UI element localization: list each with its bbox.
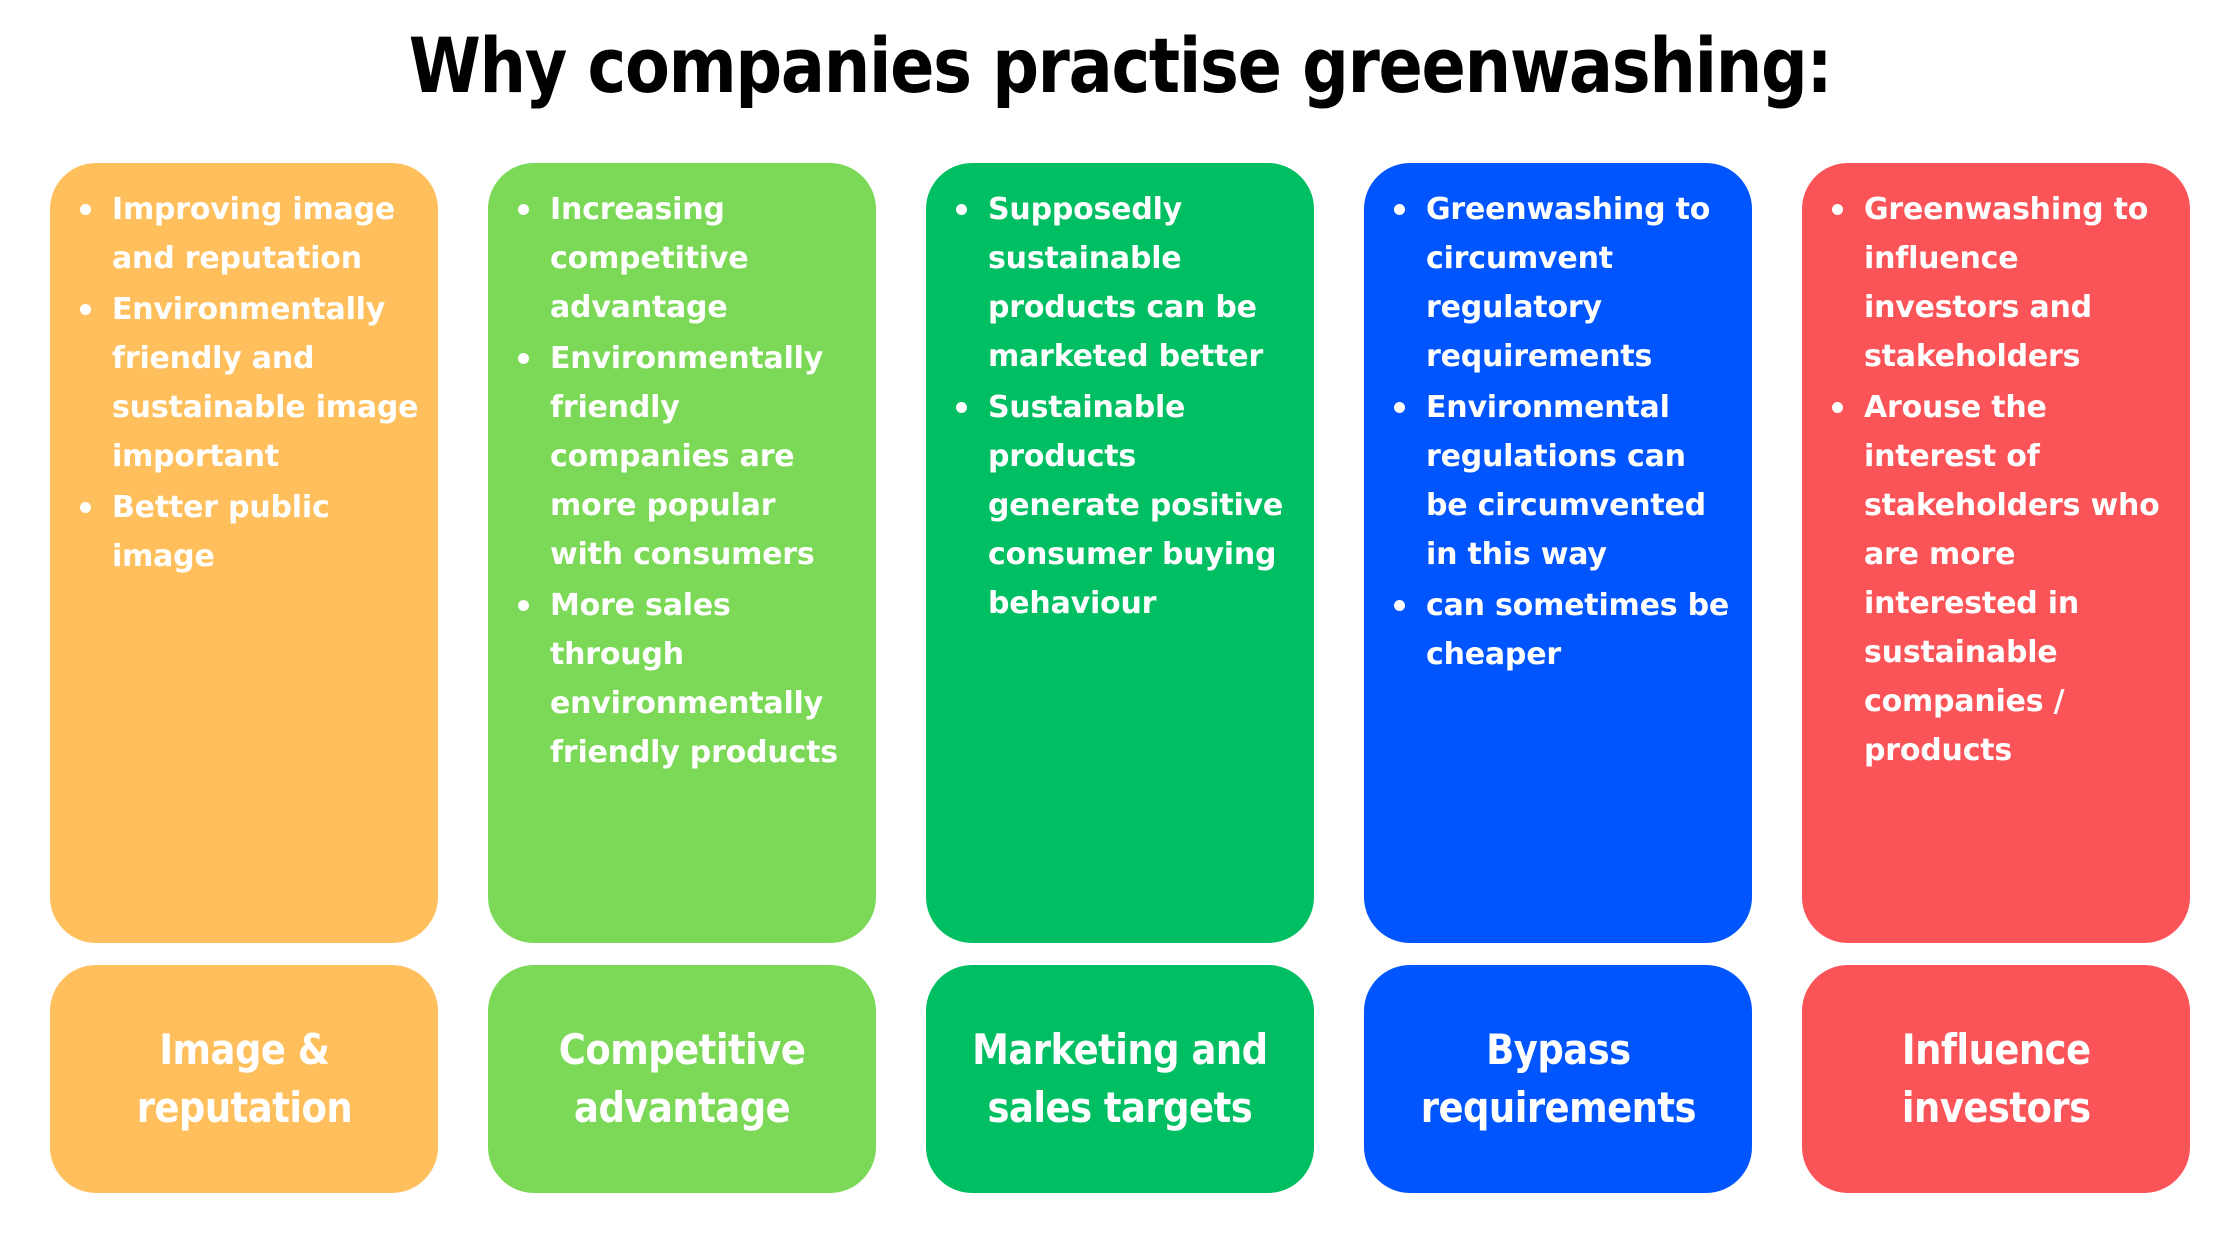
label-text: Image & reputation <box>136 1021 351 1137</box>
bullet-dot-icon <box>1394 402 1405 413</box>
page-title: Why companies practise greenwashing: <box>157 18 2083 114</box>
bullet-dot-icon <box>1832 204 1843 215</box>
bullet-item: Improving image and reputation <box>108 185 420 283</box>
column-bypass-requirements: Greenwashing to circumvent regulatory re… <box>1364 163 1752 1193</box>
bullet-item: Better public image <box>108 483 420 581</box>
bullet-list-image-reputation: Improving image and reputation Environme… <box>60 185 420 581</box>
label-text: Bypass requirements <box>1420 1021 1695 1137</box>
bullet-text: Environmentally friendly companies are m… <box>550 341 823 572</box>
bullet-item: can sometimes be cheaper <box>1422 581 1734 679</box>
column-competitive-advantage: Increasing competitive advantage Environ… <box>488 163 876 1193</box>
label-card-competitive-advantage: Competitive advantage <box>488 965 876 1193</box>
bullet-item: Arouse the interest of stakeholders who … <box>1860 383 2172 775</box>
bullet-item: Greenwashing to circumvent regulatory re… <box>1422 185 1734 381</box>
bullet-card-marketing-sales-targets: Supposedly sustainable products can be m… <box>926 163 1314 943</box>
bullet-dot-icon <box>518 204 529 215</box>
bullet-dot-icon <box>80 502 91 513</box>
bullet-list-bypass-requirements: Greenwashing to circumvent regulatory re… <box>1374 185 1734 679</box>
bullet-item: Supposedly sustainable products can be m… <box>984 185 1296 381</box>
label-card-marketing-sales-targets: Marketing and sales targets <box>926 965 1314 1193</box>
bullet-text: Supposedly sustainable products can be m… <box>988 192 1263 374</box>
label-text: Competitive advantage <box>559 1021 806 1137</box>
bullet-dot-icon <box>80 304 91 315</box>
bullet-dot-icon <box>518 353 529 364</box>
bullet-card-competitive-advantage: Increasing competitive advantage Environ… <box>488 163 876 943</box>
label-text: Influence investors <box>1902 1021 2091 1137</box>
bullet-item: Environmental regulations can be circumv… <box>1422 383 1734 579</box>
bullet-text: Increasing competitive advantage <box>550 192 748 325</box>
bullet-text: Environmental regulations can be circumv… <box>1426 390 1706 572</box>
label-card-bypass-requirements: Bypass requirements <box>1364 965 1752 1193</box>
bullet-dot-icon <box>1832 402 1843 413</box>
bullet-text: can sometimes be cheaper <box>1426 588 1729 672</box>
bullet-dot-icon <box>518 600 529 611</box>
bullet-list-competitive-advantage: Increasing competitive advantage Environ… <box>498 185 858 777</box>
bullet-text: Sustainable products generate positive c… <box>988 390 1283 621</box>
label-card-influence-investors: Influence investors <box>1802 965 2190 1193</box>
bullet-item: Environmentally friendly companies are m… <box>546 334 858 579</box>
column-image-reputation: Improving image and reputation Environme… <box>50 163 438 1193</box>
bullet-dot-icon <box>1394 204 1405 215</box>
column-influence-investors: Greenwashing to influence investors and … <box>1802 163 2190 1193</box>
bullet-dot-icon <box>956 402 967 413</box>
label-card-image-reputation: Image & reputation <box>50 965 438 1193</box>
bullet-text: Arouse the interest of stakeholders who … <box>1864 390 2160 768</box>
bullet-text: More sales through environmentally frien… <box>550 588 838 770</box>
bullet-item: Greenwashing to influence investors and … <box>1860 185 2172 381</box>
bullet-card-image-reputation: Improving image and reputation Environme… <box>50 163 438 943</box>
bullet-dot-icon <box>80 204 91 215</box>
columns-container: Improving image and reputation Environme… <box>50 163 2190 1193</box>
bullet-text: Greenwashing to influence investors and … <box>1864 192 2148 374</box>
column-marketing-sales-targets: Supposedly sustainable products can be m… <box>926 163 1314 1193</box>
bullet-item: Environmentally friendly and sustainable… <box>108 285 420 481</box>
bullet-text: Improving image and reputation <box>112 192 395 276</box>
bullet-text: Greenwashing to circumvent regulatory re… <box>1426 192 1710 374</box>
bullet-list-marketing-sales-targets: Supposedly sustainable products can be m… <box>936 185 1296 628</box>
label-text: Marketing and sales targets <box>972 1021 1267 1137</box>
bullet-card-influence-investors: Greenwashing to influence investors and … <box>1802 163 2190 943</box>
infographic-page: Why companies practise greenwashing: Imp… <box>0 0 2240 1260</box>
bullet-list-influence-investors: Greenwashing to influence investors and … <box>1812 185 2172 775</box>
bullet-dot-icon <box>1394 600 1405 611</box>
bullet-card-bypass-requirements: Greenwashing to circumvent regulatory re… <box>1364 163 1752 943</box>
bullet-text: Better public image <box>112 490 330 574</box>
bullet-item: Sustainable products generate positive c… <box>984 383 1296 628</box>
bullet-text: Environmentally friendly and sustainable… <box>112 292 418 474</box>
bullet-item: More sales through environmentally frien… <box>546 581 858 777</box>
bullet-item: Increasing competitive advantage <box>546 185 858 332</box>
bullet-dot-icon <box>956 204 967 215</box>
